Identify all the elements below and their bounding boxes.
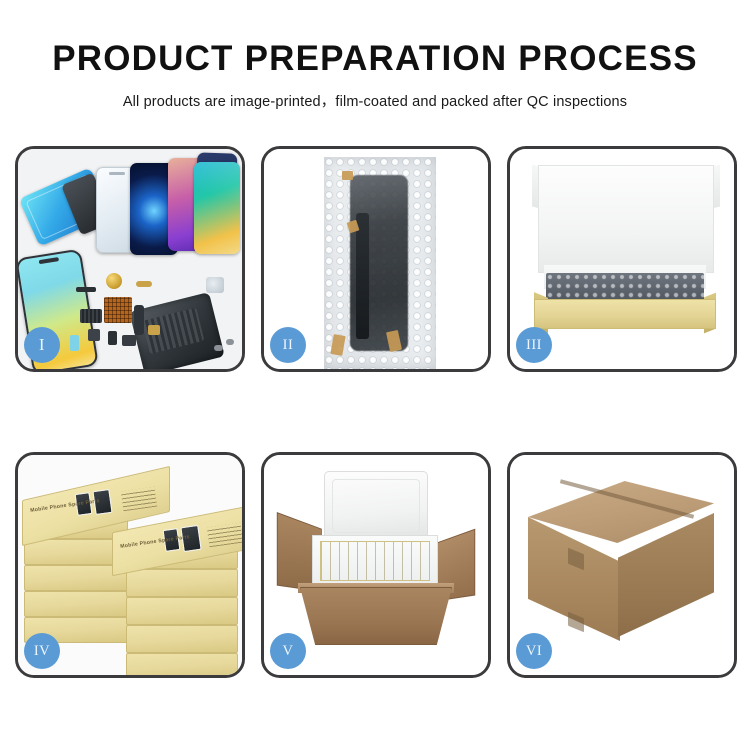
step-badge-5: V [270, 633, 306, 669]
part-tool-icon [206, 277, 224, 293]
header: PRODUCT PREPARATION PROCESS All products… [0, 40, 750, 111]
process-step-panel-3[interactable]: III [507, 146, 737, 372]
step-badge-6: VI [516, 633, 552, 669]
step-badge-3: III [516, 327, 552, 363]
process-step-panel-1[interactable]: I [15, 146, 245, 372]
process-step-panel-5[interactable]: V [261, 452, 491, 678]
part-sim-tray-icon [70, 335, 79, 351]
part-screw-icon [214, 345, 223, 351]
stacked-box [126, 569, 238, 597]
part-gold-clip-icon [136, 281, 152, 287]
process-step-panel-6[interactable]: VI [507, 452, 737, 678]
carton-body-icon [300, 587, 452, 645]
process-step-panel-2[interactable]: II [261, 146, 491, 372]
tape-piece-icon [342, 171, 353, 180]
part-antenna-icon [134, 305, 144, 335]
stacked-box [126, 625, 238, 653]
stacked-box [126, 653, 238, 675]
step-badge-4: IV [24, 633, 60, 669]
foam-lid-icon [324, 471, 428, 541]
part-connector-icon [76, 287, 96, 292]
page-subtitle: All products are image-printed，film-coat… [0, 90, 750, 111]
part-screw-icon [226, 339, 234, 345]
stacked-box [126, 597, 238, 625]
process-step-grid: I II [15, 146, 737, 678]
stacked-box [24, 591, 128, 617]
white-box-lid-icon [538, 165, 714, 273]
process-step-panel-4[interactable]: Mobile Phone Spare Parts Mobile Phone Sp… [15, 452, 245, 678]
flex-cable-icon [356, 213, 369, 339]
product-preparation-infographic: PRODUCT PREPARATION PROCESS All products… [0, 0, 750, 750]
packed-boxes-icon [320, 541, 430, 581]
step-badge-2: II [270, 327, 306, 363]
part-bracket-icon [122, 335, 136, 346]
aqua-gradient-phone-icon [194, 162, 240, 254]
kraft-box-front-icon [534, 299, 716, 329]
part-flex-cable-icon [80, 309, 102, 323]
circuit-board-icon [104, 297, 132, 323]
part-gold-contact-icon [148, 325, 160, 335]
page-title: PRODUCT PREPARATION PROCESS [0, 40, 750, 79]
step-badge-1: I [24, 327, 60, 363]
part-speaker-icon [88, 329, 100, 341]
camera-module-icon [106, 273, 122, 289]
part-button-icon [108, 331, 117, 345]
